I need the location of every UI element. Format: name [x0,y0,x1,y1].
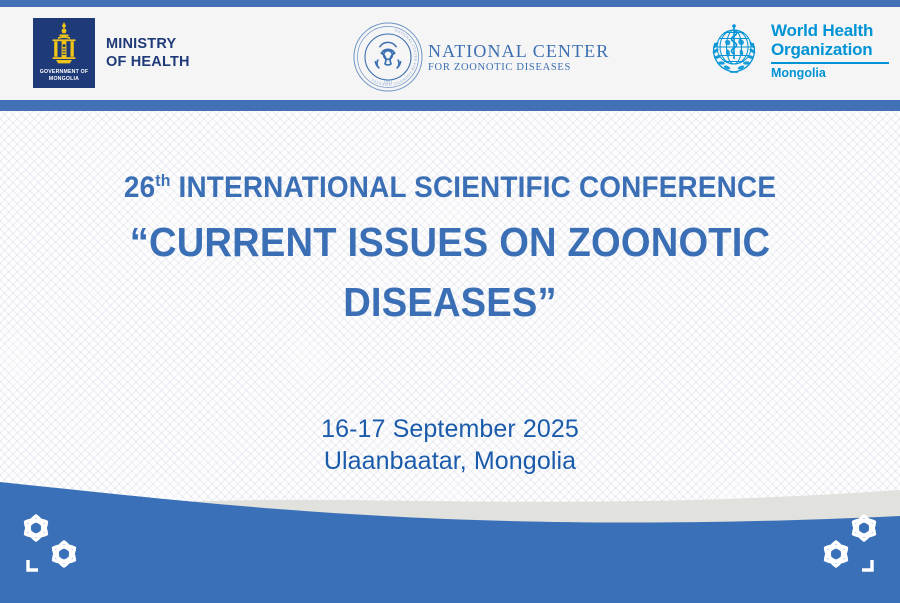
mongolian-ulzii-knot-ornament-icon [810,506,886,578]
ornament-right [810,506,886,578]
date-location-block: 16-17 September 2025 Ulaanbaatar, Mongol… [0,413,900,477]
ornament-left [14,506,90,578]
conference-number: 26 [124,171,155,204]
conference-location: Ulaanbaatar, Mongolia [0,445,900,477]
header-separator-bar [0,100,900,111]
national-center-logo: NATIONAL CENTER FOR ZOONOTIC DISEASES [352,21,609,93]
who-underline-rule [771,62,889,64]
title-block: 26th INTERNATIONAL SCIENTIFIC CONFERENCE… [0,168,900,328]
theme-line-1: “CURRENT ISSUES ON ZOONOTIC [32,216,869,268]
footer-wave-decoration [0,468,900,603]
mongolia-state-emblem-soyombo-icon [47,21,81,65]
svg-text:1931: 1931 [384,80,393,85]
who-globe-laurel-asclepius-icon [703,19,765,81]
state-emblem-caption: GOVERNMENT OF MONGOLIA [33,69,95,83]
who-name-line2: Organization [771,40,889,59]
national-center-name-line2: FOR ZOONOTIC DISEASES [428,61,609,74]
conference-heading: 26th INTERNATIONAL SCIENTIFIC CONFERENCE [32,168,869,208]
national-center-name-line1: NATIONAL CENTER [428,41,609,61]
conference-date: 16-17 September 2025 [0,413,900,445]
theme-line-2: DISEASES” [32,276,869,328]
conference-ordinal-suffix: th [155,171,170,190]
mongolian-ulzii-knot-ornament-icon [14,506,90,578]
national-center-name: NATIONAL CENTER FOR ZOONOTIC DISEASES [428,41,609,74]
conference-title-slide: GOVERNMENT OF MONGOLIA MINISTRY OF HEALT… [0,0,900,603]
biohazard-seal-icon: NATIONAL CENTER FOR ZOONOTIC DISEASES [352,21,424,93]
mongolia-state-emblem: GOVERNMENT OF MONGOLIA [33,18,95,88]
who-wordmark: World Health Organization Mongolia [771,21,889,80]
who-name-line1: World Health [771,21,889,40]
top-accent-bar [0,0,900,7]
ministry-name-line1: MINISTRY [106,35,190,53]
conference-label: INTERNATIONAL SCIENTIFIC CONFERENCE [171,171,777,204]
ministry-of-health-logo: GOVERNMENT OF MONGOLIA MINISTRY OF HEALT… [33,18,190,88]
who-country-label: Mongolia [771,66,889,80]
ministry-of-health-name: MINISTRY OF HEALTH [106,35,190,71]
who-logo: World Health Organization Mongolia [703,19,889,81]
ministry-name-line2: OF HEALTH [106,53,190,71]
